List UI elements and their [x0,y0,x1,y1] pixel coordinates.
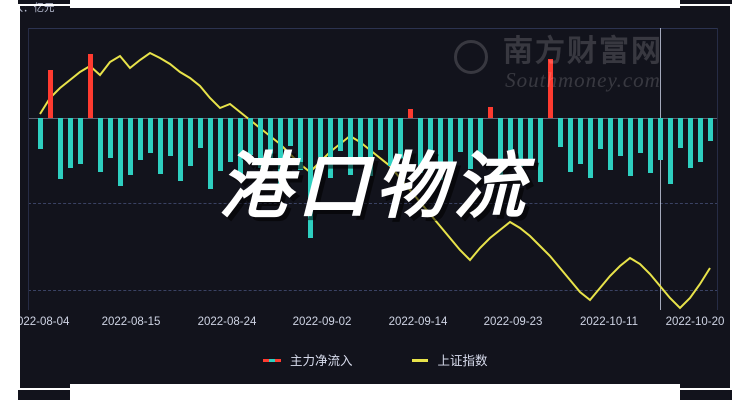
bar [468,118,473,169]
bar [688,118,693,168]
frame-right [732,0,750,400]
bar [328,118,333,178]
bar [338,118,343,151]
legend-item-netinflow[interactable]: 主力净流入 [263,350,353,369]
bar [418,118,423,173]
bar [318,118,323,157]
bar [208,118,213,189]
chart-legend: 主力净流入 上证指数 [0,350,750,369]
bar [68,118,73,168]
x-axis-tick-3: 2022-09-02 [293,316,352,328]
bar [398,118,403,159]
bar [58,118,63,179]
bar [268,118,273,160]
bar [258,118,263,168]
x-axis-tick-5: 2022-09-23 [484,316,543,328]
bar [588,118,593,178]
bar [98,118,103,172]
bar [168,118,173,156]
bar [408,109,413,118]
bar [238,118,243,177]
plot-area [28,28,718,310]
bar [308,118,313,238]
bar [488,107,493,118]
x-axis-tick-2: 2022-08-24 [198,316,257,328]
bar [38,118,43,149]
bar [678,118,683,148]
x-axis-tick-0: 2022-08-04 [11,316,70,328]
bar [278,118,283,184]
bar [78,118,83,164]
bar [118,118,123,186]
bar [148,118,153,153]
bar [108,118,113,158]
bar [668,118,673,184]
frame-gap-bottom [70,384,680,400]
chart-screenshot: 流入：亿元 9 25 44 62 2022-08-04 2022-08-15 2… [0,0,750,400]
bar [88,54,93,118]
bar [388,118,393,166]
x-axis-tick-1: 2022-08-15 [102,316,161,328]
legend-label-index: 上证指数 [437,354,487,368]
bar [508,118,513,154]
bar [248,118,253,155]
bar [158,118,163,174]
bar [288,118,293,146]
bar [618,118,623,156]
bar [188,118,193,166]
bar [298,118,303,170]
bar [638,118,643,153]
bar [348,118,353,175]
bar [698,118,703,162]
bar [578,118,583,164]
legend-bar-swatch-icon [263,359,281,362]
x-axis-tick-6: 2022-10-11 [580,316,638,328]
bar [438,118,443,180]
bar [558,118,563,147]
bar [358,118,363,163]
bar [218,118,223,171]
bar [448,118,453,165]
bar [628,118,633,176]
x-axis: 2022-08-04 2022-08-15 2022-08-24 2022-09… [0,316,750,332]
bar [198,118,203,148]
frame-left [0,0,18,400]
x-axis-tick-4: 2022-09-14 [389,316,448,328]
bar [658,118,663,160]
bar [228,118,233,162]
bar [378,118,383,150]
bar [498,118,503,175]
bar [548,59,553,118]
frame-gap-top [70,0,680,8]
bar [48,70,53,118]
chart-panel: 流入：亿元 9 25 44 62 2022-08-04 2022-08-15 2… [0,0,750,400]
bar [708,118,713,141]
bar [598,118,603,149]
x-axis-tick-7: 2022-10-20 [666,316,725,328]
bar [138,118,143,160]
bar [428,118,433,155]
bar [528,118,533,161]
legend-item-index[interactable]: 上证指数 [412,350,488,369]
bar [568,118,573,172]
bar [368,118,373,176]
bar [458,118,463,152]
bar [648,118,653,173]
bar [478,118,483,158]
bar [608,118,613,170]
legend-label-netinflow: 主力净流入 [290,354,353,368]
bar [128,118,133,175]
bar [518,118,523,167]
bar [178,118,183,181]
bar [538,118,543,182]
legend-line-swatch-icon [412,359,428,362]
